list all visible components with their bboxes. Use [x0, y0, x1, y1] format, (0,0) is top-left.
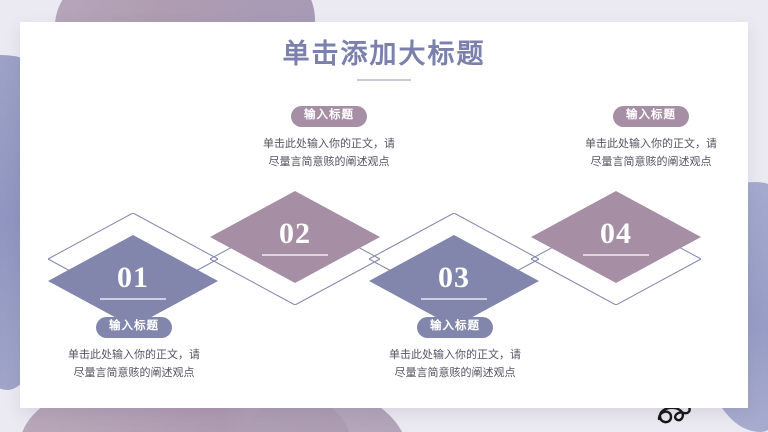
item-caption-03: 输入标题 单击此处输入你的正文，请 尽量言简意赅的阐述观点: [341, 316, 569, 382]
item-body-line1-03: 单击此处输入你的正文，请: [341, 346, 569, 364]
item-body-line1-02: 单击此处输入你的正文，请: [215, 135, 443, 153]
diamond-number-02: 02: [279, 219, 311, 249]
diamond-label-01: 01: [48, 235, 218, 327]
item-body-line2-01: 尽量言简意赅的阐述观点: [20, 364, 248, 382]
item-body-line2-03: 尽量言简意赅的阐述观点: [341, 364, 569, 382]
item-body-02: 单击此处输入你的正文，请 尽量言简意赅的阐述观点: [215, 135, 443, 171]
diamond-underline-04: [583, 254, 649, 256]
diamond-underline-01: [100, 298, 166, 300]
diamond-number-03: 03: [438, 263, 470, 293]
page-title: 单击添加大标题: [20, 40, 748, 70]
slide-content-card: 单击添加大标题 输入标题 单击此处输入你的正文，请 尽量言简意赅的阐述观点 输入…: [20, 22, 748, 408]
item-body-line2-04: 尽量言简意赅的阐述观点: [537, 153, 765, 171]
diamond-number-01: 01: [117, 263, 149, 293]
diamond-item-04[interactable]: 04: [531, 191, 701, 283]
diamond-label-04: 04: [531, 191, 701, 283]
item-pill-label-03[interactable]: 输入标题: [417, 317, 493, 338]
diamond-label-02: 02: [210, 191, 380, 283]
diamond-number-04: 04: [600, 219, 632, 249]
item-caption-04: 输入标题 单击此处输入你的正文，请 尽量言简意赅的阐述观点: [537, 105, 765, 171]
diamond-item-03[interactable]: 03: [369, 213, 539, 305]
slide-canvas: 单击添加大标题 输入标题 单击此处输入你的正文，请 尽量言简意赅的阐述观点 输入…: [0, 0, 768, 432]
item-pill-label-04[interactable]: 输入标题: [613, 106, 689, 127]
item-caption-02: 输入标题 单击此处输入你的正文，请 尽量言简意赅的阐述观点: [215, 105, 443, 171]
item-pill-label-02[interactable]: 输入标题: [291, 106, 367, 127]
diamond-item-01[interactable]: 01: [48, 213, 218, 305]
item-body-line1-01: 单击此处输入你的正文，请: [20, 346, 248, 364]
item-body-04: 单击此处输入你的正文，请 尽量言简意赅的阐述观点: [537, 135, 765, 171]
page-title-block: 单击添加大标题: [20, 40, 748, 81]
item-body-03: 单击此处输入你的正文，请 尽量言简意赅的阐述观点: [341, 346, 569, 382]
diamond-underline-03: [421, 298, 487, 300]
item-body-line2-02: 尽量言简意赅的阐述观点: [215, 153, 443, 171]
item-body-line1-04: 单击此处输入你的正文，请: [537, 135, 765, 153]
item-caption-01: 输入标题 单击此处输入你的正文，请 尽量言简意赅的阐述观点: [20, 316, 248, 382]
diamond-underline-02: [262, 254, 328, 256]
title-divider: [357, 79, 411, 81]
item-body-01: 单击此处输入你的正文，请 尽量言简意赅的阐述观点: [20, 346, 248, 382]
item-pill-label-01[interactable]: 输入标题: [96, 317, 172, 338]
diamond-label-03: 03: [369, 235, 539, 327]
diamond-item-02[interactable]: 02: [210, 191, 380, 283]
